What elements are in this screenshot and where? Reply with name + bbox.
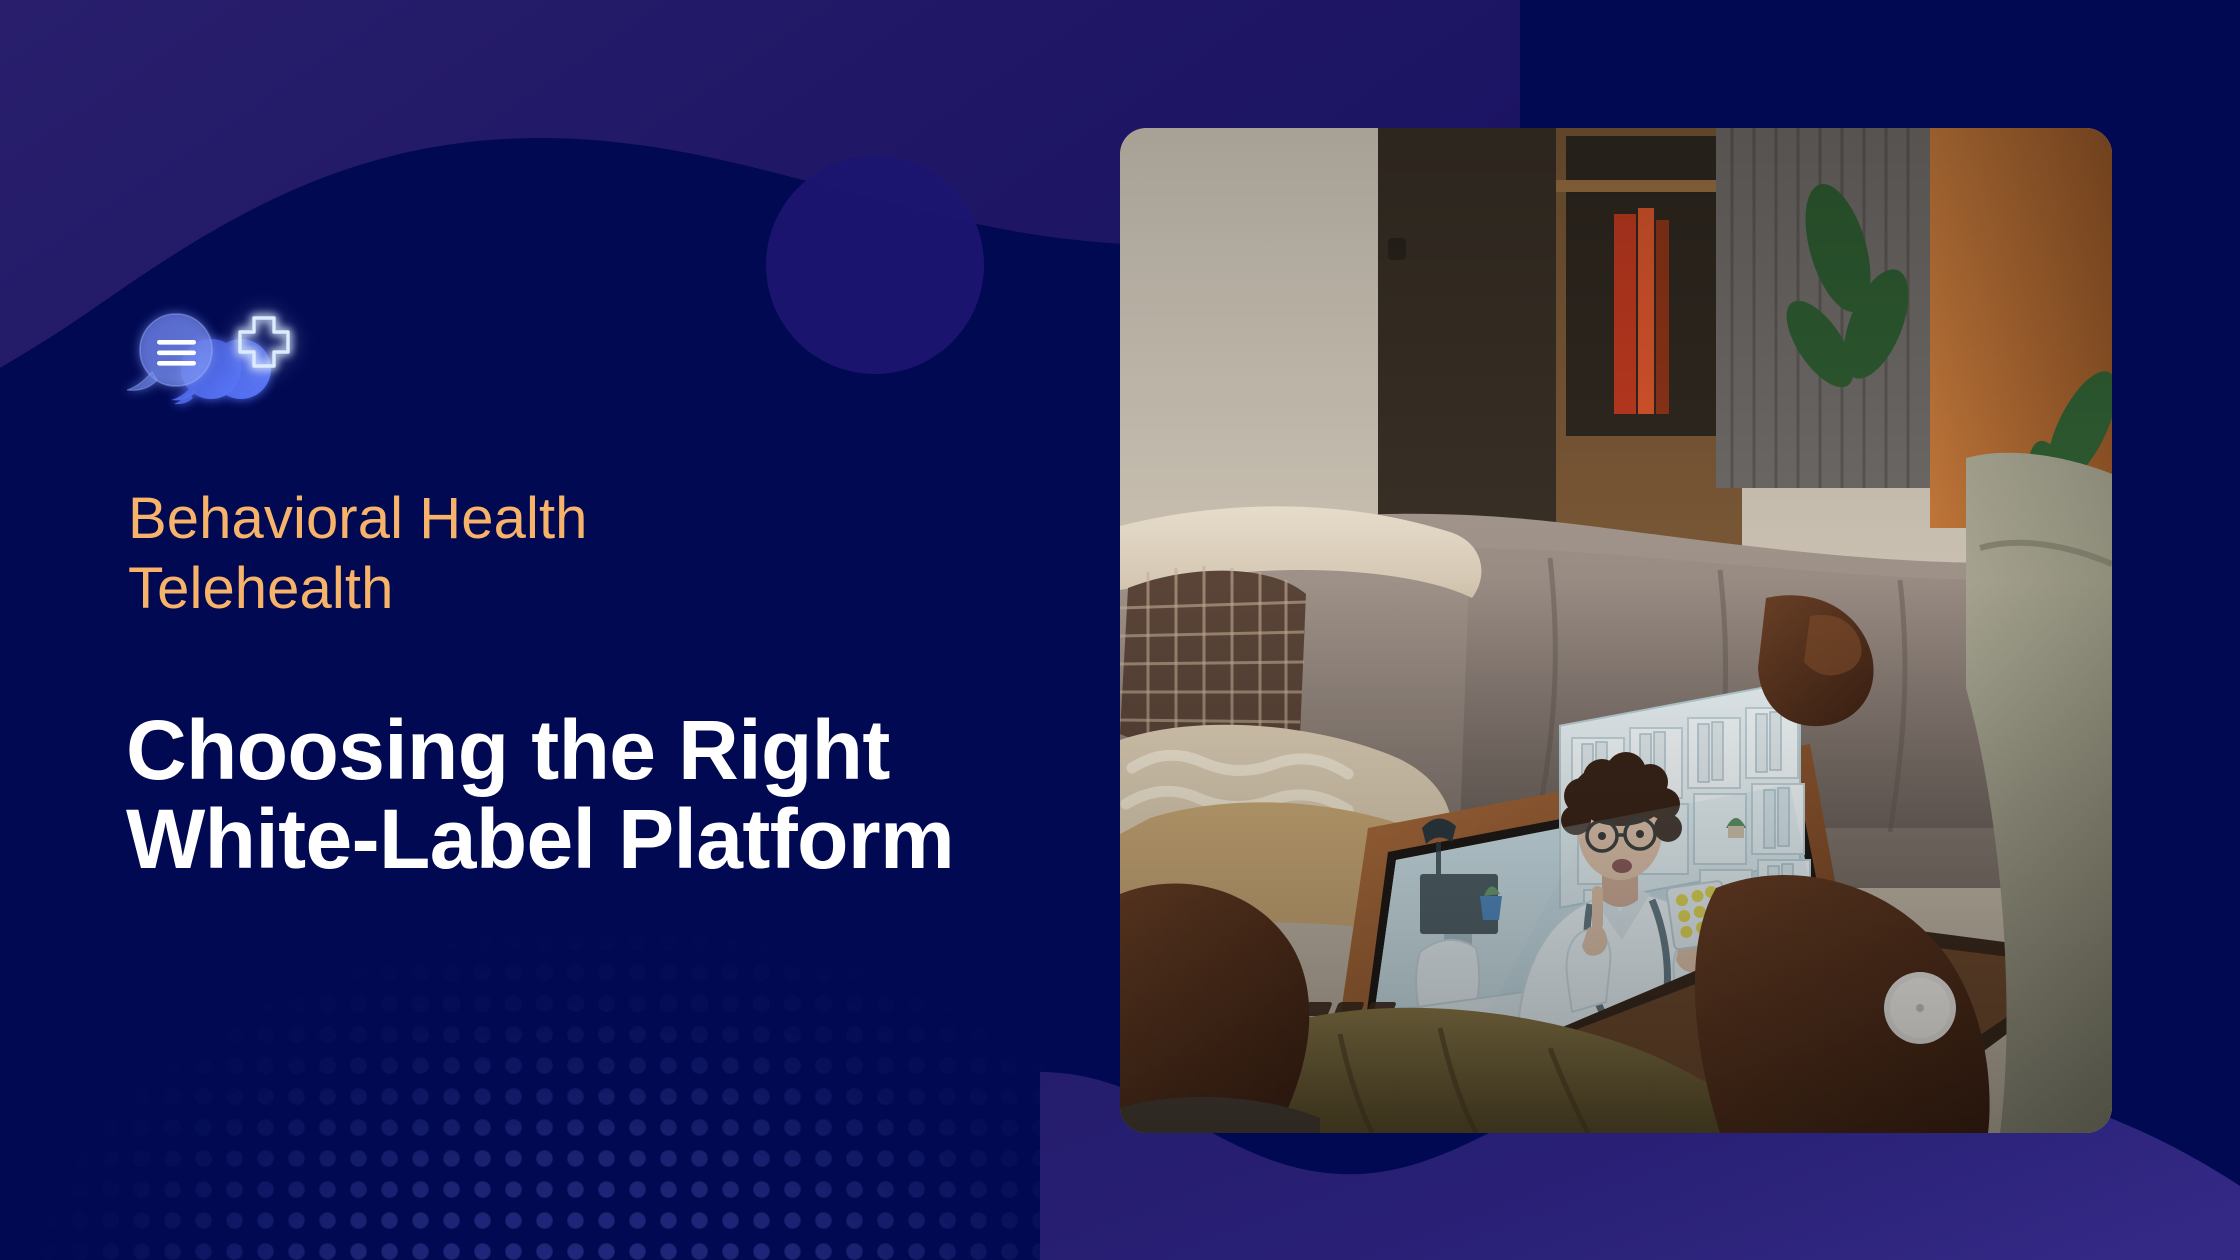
brand-logo	[126, 306, 310, 418]
page-title: Choosing the Right White-Label Platform	[126, 706, 1106, 884]
hero-slide: Behavioral Health Telehealth Choosing th…	[0, 0, 2240, 1260]
headline-line-1: Choosing the Right	[126, 706, 1106, 795]
eyebrow-line-2: Telehealth	[128, 554, 848, 624]
eyebrow-line-1: Behavioral Health	[128, 484, 848, 554]
content-column: Behavioral Health Telehealth Choosing th…	[126, 0, 1076, 1260]
eyebrow-text: Behavioral Health Telehealth	[128, 484, 848, 623]
telehealth-video-consultation-photo	[1120, 128, 2112, 1133]
message-lines-icon	[157, 340, 196, 366]
headline-line-2: White-Label Platform	[126, 795, 1106, 884]
